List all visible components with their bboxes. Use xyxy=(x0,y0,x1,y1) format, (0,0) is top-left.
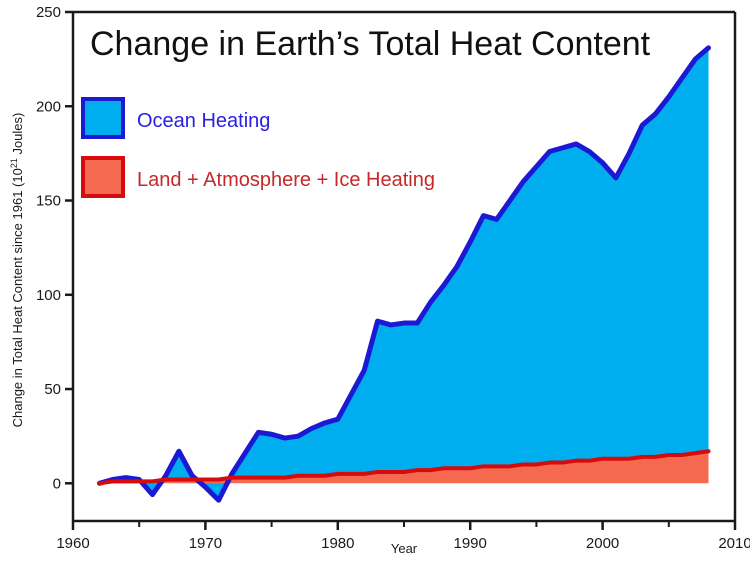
x-tick-label: 2000 xyxy=(586,535,619,552)
x-tick-label: 1980 xyxy=(321,535,354,552)
y-tick-label: 200 xyxy=(36,98,61,115)
y-axis-title-main: Change in Total Heat Content since 1961 … xyxy=(10,168,25,427)
y-axis-title-tail: Joules) xyxy=(10,113,25,159)
x-tick-label: 2010 xyxy=(718,535,750,552)
x-tick-label: 1960 xyxy=(56,535,89,552)
y-tick-label: 250 xyxy=(36,4,61,21)
y-tick-label: 0 xyxy=(53,475,61,492)
y-tick-label: 150 xyxy=(36,193,61,210)
x-tick-label: 1970 xyxy=(189,535,222,552)
x-tick-label: 1990 xyxy=(454,535,487,552)
y-axis-title-exponent: 21 xyxy=(9,158,19,168)
legend-swatch-ocean xyxy=(83,99,123,137)
legend-label-ocean: Ocean Heating xyxy=(137,110,270,132)
legend-swatch-land xyxy=(83,158,123,196)
y-tick-label: 100 xyxy=(36,287,61,304)
x-axis-title: Year xyxy=(391,541,418,556)
heat-content-chart: 050100150200250 196019701980199020002010… xyxy=(0,0,750,561)
y-tick-label: 50 xyxy=(44,381,61,398)
page-title: Change in Earth’s Total Heat Content xyxy=(90,25,651,63)
chart-svg: 050100150200250 196019701980199020002010… xyxy=(0,0,750,561)
legend-label-land: Land + Atmosphere + Ice Heating xyxy=(137,169,435,191)
